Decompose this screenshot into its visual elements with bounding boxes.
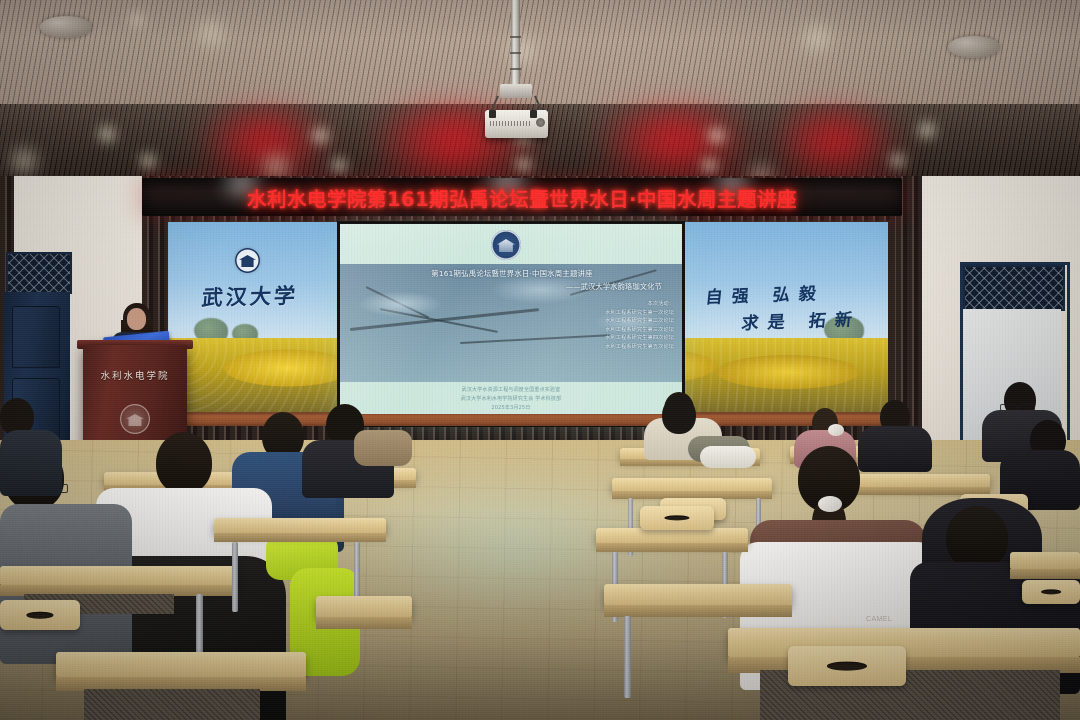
ceiling-downlight <box>888 152 907 169</box>
desk-leg <box>232 542 238 612</box>
university-emblem-icon <box>235 248 260 273</box>
desk <box>604 584 792 606</box>
led-banner-text: 水利水电学院第161期弘禹论坛暨世界水日·中国水周主题讲座 <box>142 178 902 216</box>
desk-modesty-panel <box>84 689 260 720</box>
desk-edge <box>316 617 412 629</box>
speaker-head <box>127 308 146 330</box>
desk <box>214 518 386 534</box>
desk <box>1010 552 1080 570</box>
ceiling-downlight <box>96 124 118 144</box>
ceiling-downlight <box>700 157 719 174</box>
desk <box>596 528 748 544</box>
led-banner: 水利水电学院第161期弘禹论坛暨世界水日·中国水周主题讲座 <box>142 178 902 216</box>
university-name-calligraphy: 武汉大学 <box>200 280 299 313</box>
ceiling-downlight <box>330 157 349 174</box>
ceiling-downlight <box>128 12 146 28</box>
desk-leg <box>624 616 631 698</box>
podium-emblem-icon <box>120 404 150 434</box>
ceiling-downlight <box>514 156 533 173</box>
desk-edge <box>1010 569 1080 579</box>
ceiling-air-vent <box>948 36 1000 58</box>
ceiling-downlight <box>138 152 158 170</box>
motto-line-1: 自强 弘毅 <box>704 279 826 308</box>
ceiling-downlight <box>916 120 938 140</box>
projector-cable-plug <box>530 110 537 118</box>
lecture-hall-photo: 水利水电学院第161期弘禹论坛暨世界水日·中国水周主题讲座 第161期弘禹论坛暨… <box>0 0 1080 720</box>
ceiling-downlight <box>310 126 331 145</box>
desk <box>0 566 238 586</box>
projector-lens-icon <box>536 118 545 127</box>
ceiling-air-vent <box>40 16 92 38</box>
projector-bracket <box>500 84 532 98</box>
jacket-brand-text: CAMEL <box>866 616 892 623</box>
ceiling-downlight <box>8 148 40 174</box>
chair-backrest[interactable] <box>640 506 714 530</box>
projection-screen: 第161期弘禹论坛暨世界水日·中国水周主题讲座 ——武汉大学水韵珞珈文化节 本次… <box>340 224 682 424</box>
desk <box>612 478 772 492</box>
door-transom-right <box>963 265 1065 311</box>
door-transom-left <box>6 252 72 294</box>
projector-cable-plug <box>489 110 496 118</box>
desk-edge <box>596 543 748 552</box>
motto-line-2: 求是 拓新 <box>740 305 862 334</box>
chair-backrest[interactable] <box>788 646 906 686</box>
ceiling-downlight <box>196 20 226 46</box>
ceiling-downlight <box>706 126 727 145</box>
desk <box>56 652 306 678</box>
ceiling-downlight <box>802 25 832 51</box>
podium-label: 水利水电学院 <box>83 368 187 382</box>
chair-backrest[interactable] <box>0 600 80 630</box>
projector-vent-grille <box>490 121 530 126</box>
screen-glare <box>340 224 682 424</box>
hair-clip <box>828 424 844 436</box>
attendee-khaki-sleeve <box>354 430 412 466</box>
projector-mount-pole <box>511 0 520 88</box>
desk-edge <box>604 605 792 617</box>
chair-backrest[interactable] <box>1022 580 1080 604</box>
desk <box>316 596 412 618</box>
desk-edge <box>214 533 386 542</box>
